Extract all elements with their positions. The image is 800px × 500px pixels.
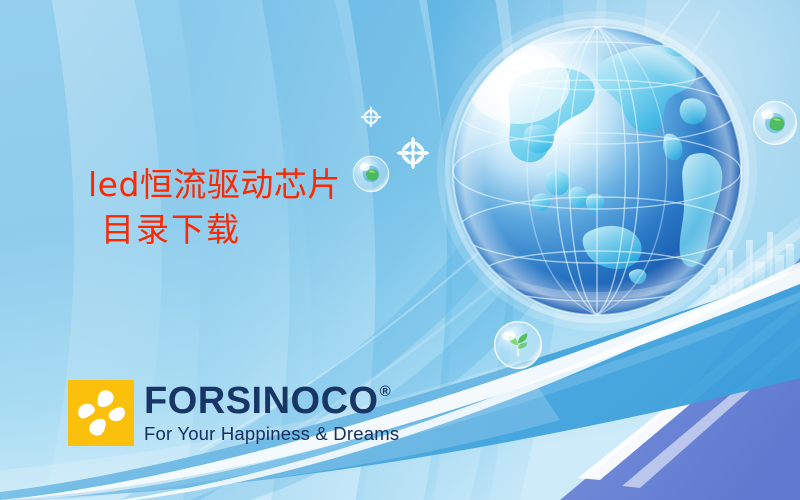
globe-graphic bbox=[432, 8, 762, 338]
logo-brand-row: FORSINOCO ® bbox=[144, 383, 399, 419]
headline-line-1: led恒流驱动芯片 bbox=[88, 163, 418, 208]
sparkle-star-small bbox=[360, 106, 382, 128]
bubble-edge-icon bbox=[752, 100, 798, 146]
logo-text-block: FORSINOCO ® For Your Happiness & Dreams bbox=[144, 380, 399, 445]
pinwheel-icon bbox=[68, 380, 134, 446]
bubble-sprout-icon bbox=[493, 320, 543, 370]
world-globe bbox=[432, 8, 762, 338]
logo-brand-name: FORSINOCO bbox=[144, 383, 379, 419]
forsinoco-pinwheel-mark bbox=[68, 380, 134, 446]
headline-line-2: 目录下载 bbox=[88, 208, 418, 253]
promotional-banner: led恒流驱动芯片 目录下载 FORSINOCO bbox=[0, 0, 800, 500]
logo-tagline: For Your Happiness & Dreams bbox=[144, 423, 399, 445]
headline-block: led恒流驱动芯片 目录下载 bbox=[88, 163, 418, 253]
registered-trademark-symbol: ® bbox=[380, 384, 391, 399]
company-logo: FORSINOCO ® For Your Happiness & Dreams bbox=[68, 380, 399, 446]
